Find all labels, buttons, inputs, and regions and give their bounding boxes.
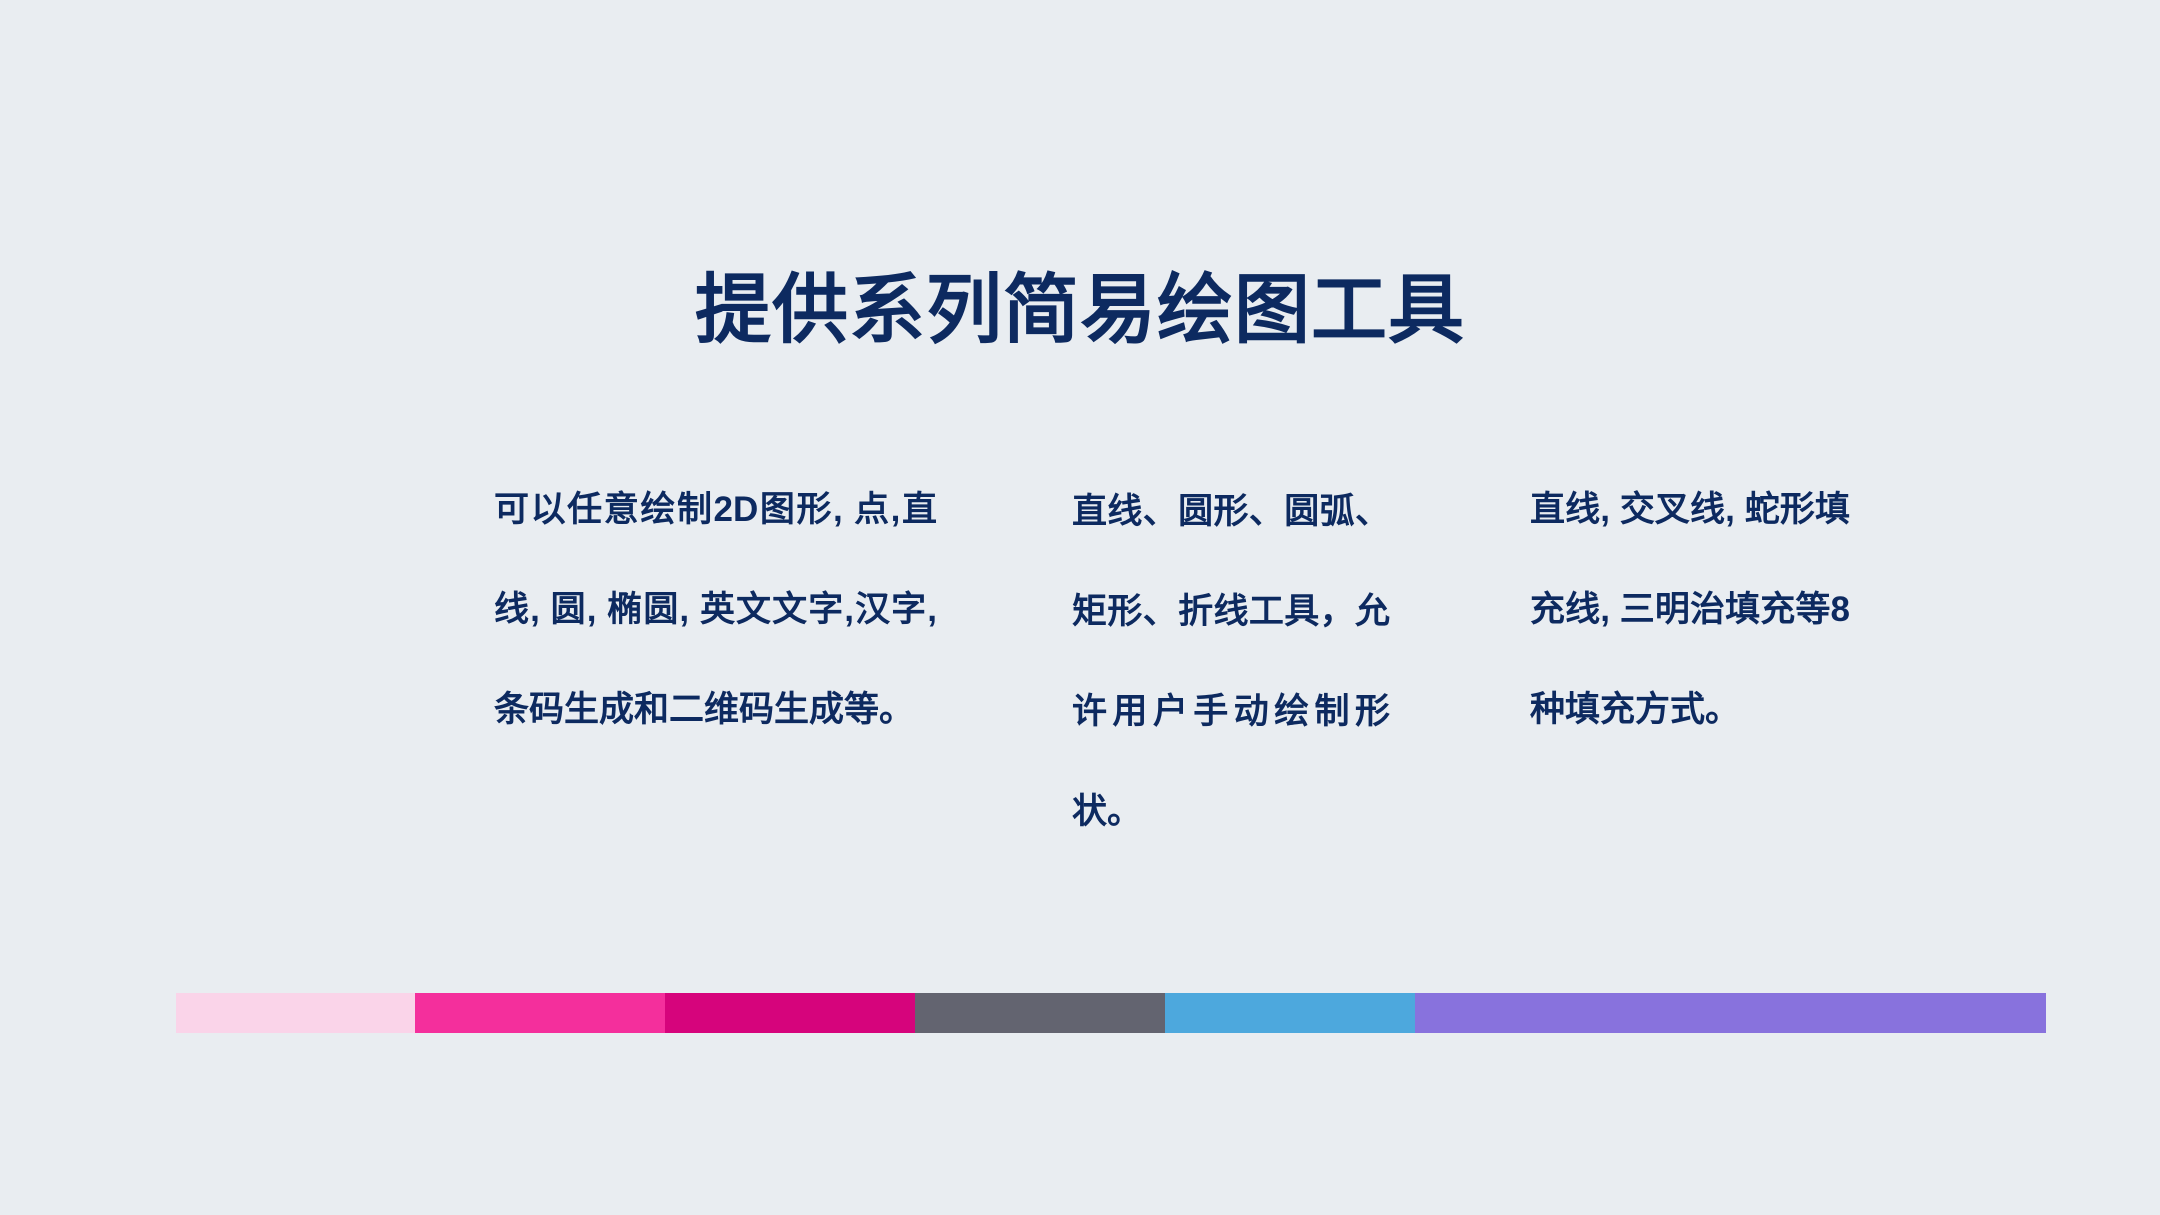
feature-column-drawing-primitives: 可以任意绘制2D图形, 点,直线, 圆, 椭圆, 英文文字,汉字, 条码生成和二… (494, 460, 937, 760)
color-bar-segment-sky-blue (1165, 993, 1415, 1033)
feature-columns: 可以任意绘制2D图形, 点,直线, 圆, 椭圆, 英文文字,汉字, 条码生成和二… (0, 460, 2160, 880)
feature-column-text: 可以任意绘制2D图形, 点,直线, 圆, 椭圆, 英文文字,汉字, 条码生成和二… (494, 460, 937, 760)
color-bar-segment-periwinkle-purple (1415, 993, 2046, 1033)
color-bar (176, 993, 2046, 1033)
color-bar-segment-hot-pink (415, 993, 665, 1033)
feature-column-text: 直线、圆形、圆弧、矩形、折线工具，允许用户手动绘制形状。 (1072, 462, 1390, 862)
feature-column-text: 直线, 交叉线, 蛇形填充线, 三明治填充等8种填充方式。 (1530, 460, 1850, 760)
page-title: 提供系列简易绘图工具 (0, 263, 2160, 359)
color-bar-segment-slate-gray (915, 993, 1165, 1033)
color-bar-segment-deep-magenta (665, 993, 915, 1033)
feature-column-fill-styles: 直线, 交叉线, 蛇形填充线, 三明治填充等8种填充方式。 (1530, 460, 1850, 760)
color-bar-segment-light-pink (176, 993, 415, 1033)
feature-column-manual-shape-tools: 直线、圆形、圆弧、矩形、折线工具，允许用户手动绘制形状。 (1072, 460, 1390, 862)
slide-root: 提供系列简易绘图工具 可以任意绘制2D图形, 点,直线, 圆, 椭圆, 英文文字… (0, 0, 2160, 1215)
